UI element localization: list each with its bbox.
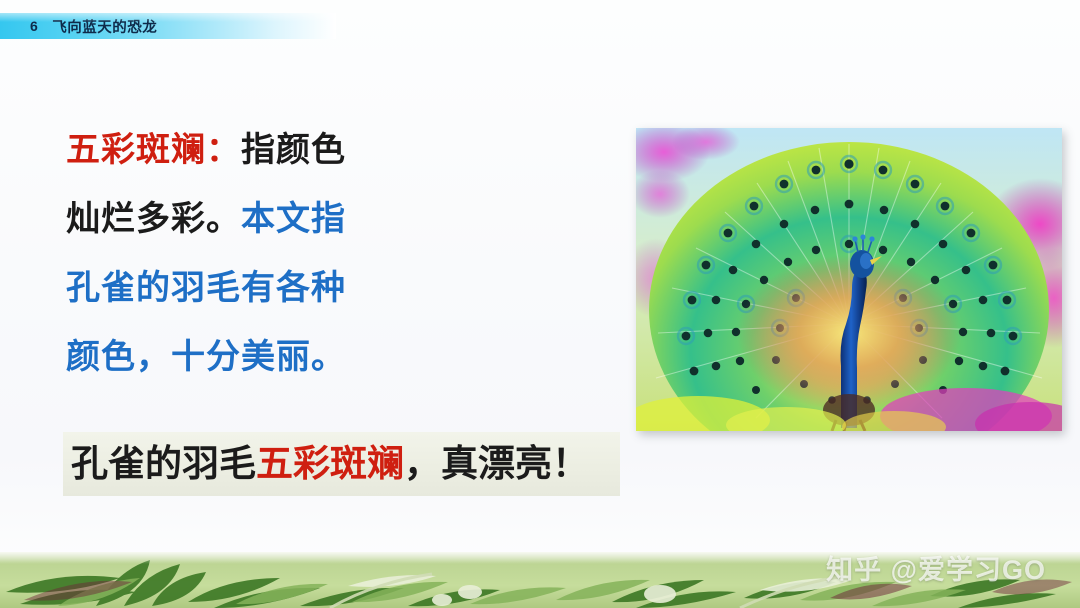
definition-body-2: 灿烂多彩。 xyxy=(66,201,241,238)
lesson-title: 飞向蓝天的恐龙 xyxy=(52,16,157,37)
lesson-number: 6 xyxy=(30,18,38,34)
definition-line-3: 孔雀的羽毛有各种 xyxy=(66,254,486,323)
footer-foliage-band xyxy=(0,552,1080,608)
definition-line-4: 颜色，十分美丽。 xyxy=(66,323,486,392)
lesson-header-bar: 6 飞向蓝天的恐龙 xyxy=(0,13,336,39)
peacock-photo xyxy=(636,128,1062,431)
definition-application-2: 孔雀的羽毛有各种 xyxy=(66,270,346,307)
example-sentence-band: 孔雀的羽毛五彩斑斓，真漂亮！ xyxy=(63,432,620,496)
definition-body-1: 指颜色 xyxy=(241,132,346,169)
definition-line-1: 五彩斑斓：指颜色 xyxy=(66,116,486,185)
definition-text-block: 五彩斑斓：指颜色 灿烂多彩。本文指 孔雀的羽毛有各种 颜色，十分美丽。 xyxy=(66,116,486,392)
definition-term: 五彩斑斓： xyxy=(66,132,241,169)
definition-application-1: 本文指 xyxy=(241,201,346,238)
lesson-header-inner: 6 飞向蓝天的恐龙 xyxy=(0,13,336,39)
definition-application-3: 颜色，十分美丽。 xyxy=(66,339,346,376)
example-segment-1: 孔雀的羽毛 xyxy=(71,444,256,485)
example-segment-3: ，真漂亮！ xyxy=(404,444,589,485)
definition-line-2: 灿烂多彩。本文指 xyxy=(66,185,486,254)
example-sentence: 孔雀的羽毛五彩斑斓，真漂亮！ xyxy=(63,446,589,483)
example-highlight-term: 五彩斑斓 xyxy=(256,444,404,485)
slide-canvas: 6 飞向蓝天的恐龙 五彩斑斓：指颜色 灿烂多彩。本文指 孔雀的羽毛有各种 颜色，… xyxy=(0,0,1080,608)
